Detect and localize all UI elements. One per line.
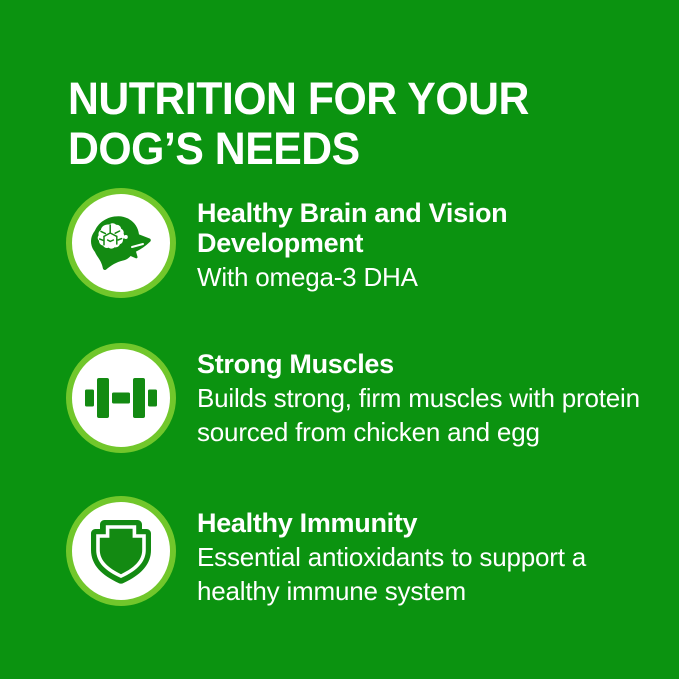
feature-heading: Healthy Brain and Vision Development (197, 198, 661, 258)
feature-icon-badge (66, 496, 176, 606)
feature-icon-badge (66, 343, 176, 453)
feature-list: Healthy Brain and Vision Development Wit… (0, 188, 679, 608)
feature-text: Healthy Immunity Essential antioxidants … (176, 496, 661, 608)
feature-heading: Healthy Immunity (197, 508, 661, 538)
feature-icon-badge (66, 188, 176, 298)
feature-item-strong-muscles: Strong Muscles Builds strong, firm muscl… (0, 343, 679, 453)
feature-text: Strong Muscles Builds strong, firm muscl… (176, 343, 661, 449)
shield-icon (90, 517, 152, 585)
feature-body: With omega-3 DHA (197, 260, 661, 294)
dog-head-brain-icon (88, 213, 154, 273)
feature-item-brain-vision: Healthy Brain and Vision Development Wit… (0, 188, 679, 298)
nutrition-benefits-poster: NUTRITION FOR YOUR DOG’S NEEDS (0, 0, 679, 679)
page-title: NUTRITION FOR YOUR DOG’S NEEDS (68, 74, 600, 174)
feature-text: Healthy Brain and Vision Development Wit… (176, 188, 661, 294)
dumbbell-icon (85, 375, 157, 421)
feature-item-healthy-immunity: Healthy Immunity Essential antioxidants … (0, 496, 679, 608)
feature-body: Essential antioxidants to support a heal… (197, 540, 661, 608)
feature-body: Builds strong, firm muscles with protein… (197, 381, 661, 449)
feature-heading: Strong Muscles (197, 349, 661, 379)
